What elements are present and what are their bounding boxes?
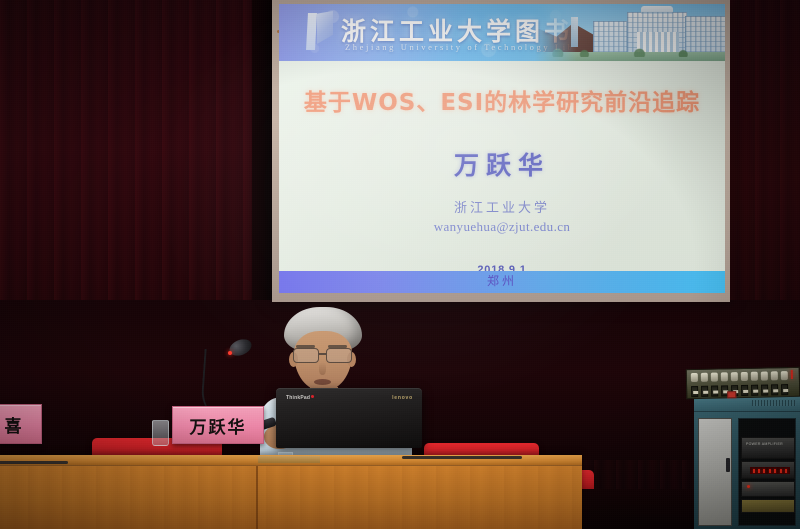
mixer-fader[interactable] [691, 386, 698, 397]
led-display [750, 467, 790, 474]
mixer-knob[interactable] [731, 372, 738, 381]
power-led [747, 485, 750, 488]
mixer-fader[interactable] [711, 386, 718, 397]
mixer-knob[interactable] [711, 373, 718, 382]
slide-city: 郑州 [279, 272, 725, 289]
rack-unit-player[interactable] [741, 481, 795, 497]
slide-affiliation: 浙江工业大学 [279, 197, 725, 216]
slide-presenter-name: 万跃华 [279, 146, 725, 182]
table-panel-seam [256, 466, 258, 529]
mixer-knob[interactable] [781, 371, 788, 380]
nameplate-text: 喜 [5, 412, 24, 437]
mixer-fader[interactable] [781, 384, 788, 395]
nameplate-text: 万跃华 [190, 413, 247, 438]
library-building-photo [535, 4, 725, 61]
zjut-library-logo-icon [307, 11, 334, 51]
table-cable [402, 456, 522, 459]
mixer-knob[interactable] [771, 371, 778, 380]
mixer-fader[interactable] [741, 385, 748, 396]
rack-door[interactable] [698, 418, 732, 526]
presenter-nose [319, 362, 326, 375]
rack-unit-tuner[interactable] [741, 461, 795, 479]
mixer-knob[interactable] [691, 373, 698, 382]
microphone-indicator-light [228, 351, 232, 355]
audio-mixing-console[interactable] [686, 367, 800, 399]
laptop-thinkpad[interactable]: ThinkPad lenovo [276, 388, 422, 448]
mixer-knob[interactable] [751, 372, 758, 381]
mixer-knob[interactable] [721, 372, 728, 381]
mixer-fader[interactable] [751, 385, 758, 396]
table-patch [258, 456, 320, 463]
wooden-podium-table [0, 455, 582, 529]
rack-door-handle[interactable] [726, 458, 730, 472]
lenovo-logo: lenovo [392, 395, 413, 401]
rack-equipment-bay: POWER AMPLIFIER [738, 418, 796, 526]
mixer-fader-row[interactable] [691, 384, 797, 397]
mixer-knob[interactable] [741, 372, 748, 381]
mixer-fader[interactable] [761, 384, 768, 395]
table-cable [0, 461, 68, 464]
projection-screen-frame: 浙江工业大学图书馆 Zhejiang University of Technol… [272, 0, 730, 302]
rack-vent [752, 400, 796, 406]
presenter-mouth [314, 379, 331, 385]
mixer-label-tag [727, 391, 736, 398]
mixer-knob[interactable] [761, 371, 768, 380]
av-equipment-rack: POWER AMPLIFIER [694, 396, 800, 529]
slide-title: 基于WOS、ESI的林学研究前沿追踪 [279, 83, 725, 117]
nameplate-speaker: 万跃华 [172, 406, 264, 444]
mixer-knob-row[interactable] [691, 371, 797, 382]
stage-curtain-left [0, 0, 278, 330]
projection-screen-surface: 浙江工业大学图书馆 Zhejiang University of Technol… [279, 4, 725, 293]
water-glass [152, 420, 169, 446]
slide-email: wanyuehua@zjut.edu.cn [279, 219, 725, 235]
mixer-fader[interactable] [771, 384, 778, 395]
eyeglasses-icon [290, 348, 357, 363]
rack-unit-drawer[interactable] [741, 499, 795, 513]
rack-unit-amplifier[interactable]: POWER AMPLIFIER [741, 437, 795, 459]
mixer-indicator-light [790, 370, 793, 379]
slide-banner: 浙江工业大学图书馆 Zhejiang University of Technol… [279, 4, 725, 61]
rack-unit-label: POWER AMPLIFIER [746, 442, 783, 446]
mixer-fader[interactable] [701, 386, 708, 397]
conference-photo-scene: 浙江工业大学图书馆 Zhejiang University of Technol… [0, 0, 800, 529]
thinkpad-logo: ThinkPad [286, 395, 314, 401]
mixer-knob[interactable] [701, 373, 708, 382]
nameplate-partial-left: 喜 [0, 404, 42, 444]
